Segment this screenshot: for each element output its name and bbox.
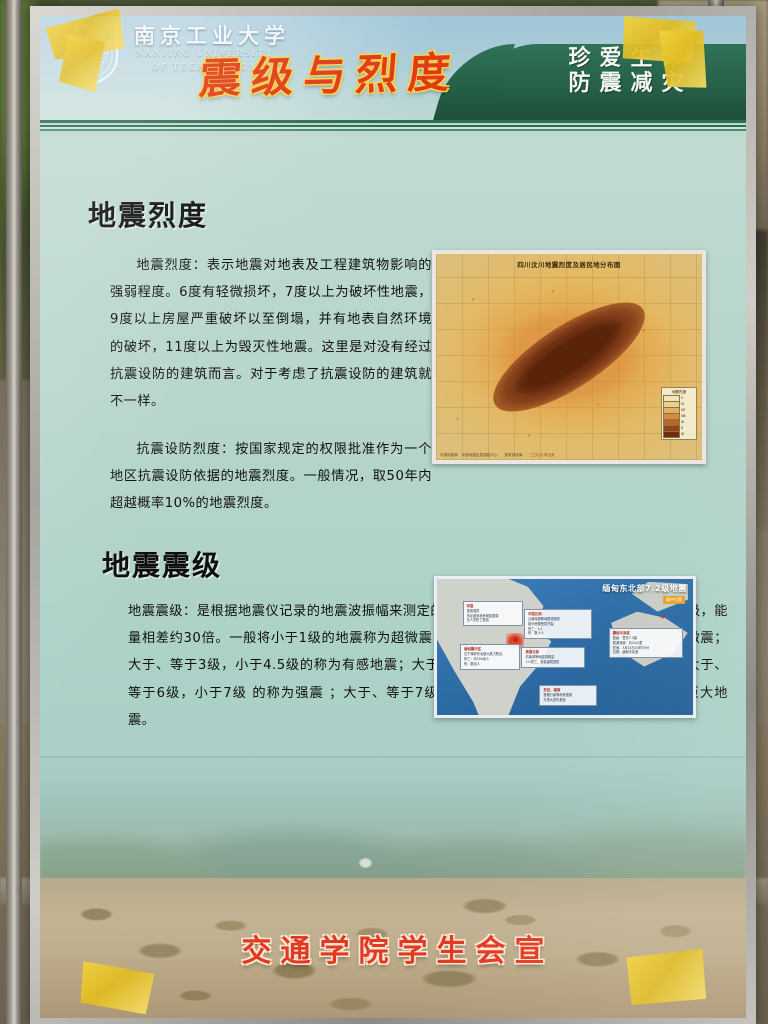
sichuan-map-footer-note: 中国地震局 中国地震应急搜救中心 国家测绘局 二〇〇八年五月: [440, 452, 555, 457]
legend-label: Ⅴ: [681, 396, 683, 400]
legend-label: Ⅵ: [681, 402, 684, 406]
map-callout: 泰国北部清莱府等地震感明显1人死亡，多处建筑受损: [521, 647, 585, 668]
poster-frame: 南京工业大学 NANJING UNIVERSITY OF TECHNOLOGY …: [30, 6, 756, 1024]
legend-row: Ⅺ: [663, 431, 695, 437]
poster-frame-inner: 南京工业大学 NANJING UNIVERSITY OF TECHNOLOGY …: [40, 16, 746, 1018]
map-callout: 印度震感强烈东北部多地有明显震感无人员伤亡报告: [463, 601, 523, 627]
bottom-photo-pipe: [359, 858, 372, 868]
section-heading-magnitude: 地震震级: [102, 544, 222, 584]
map-callout: 缅甸震中区位于掸邦东北部大其力附近死亡：约200余人伤：数百人: [460, 644, 520, 670]
poster-main-title: 震级与烈度: [197, 39, 462, 107]
background-pole-left: [6, 0, 22, 1024]
legend-rows: ⅤⅥⅦⅧⅨⅩⅪ: [663, 395, 695, 437]
map-callout-line: 无重大损失报告: [543, 698, 593, 703]
figure-sichuan-intensity-map: 四川汶川地震烈度及居民地分布图 地震烈度 ⅤⅥⅦⅧⅨⅩⅪ 中国地震局 中国地震应…: [432, 250, 706, 464]
map-callout-line: 位置：缅甸东北部: [613, 650, 679, 655]
legend-swatch: [663, 431, 680, 438]
map-callout-line: 伤：数百人: [464, 662, 516, 667]
myanmar-map-title: 缅甸东北部7.2级地震: [602, 583, 687, 594]
map-callout-line: 1人死亡，多处建筑受损: [525, 660, 581, 665]
poster-board: 南京工业大学 NANJING UNIVERSITY OF TECHNOLOGY …: [40, 16, 746, 1018]
myanmar-map-badge: 震中位置: [663, 596, 685, 604]
figure-myanmar-earthquake-map: 缅甸东北部7.2级地震 震中位置 印度震感强烈东北部多地有明显震感无人员伤亡报告…: [434, 576, 696, 718]
footer-credit-text: 交通学院学生会宣: [40, 926, 746, 970]
legend-label: Ⅺ: [681, 432, 684, 436]
map-callout: 老挝、越南首都万象等地有震感无重大损失报告: [539, 685, 597, 706]
sichuan-map-canvas: 四川汶川地震烈度及居民地分布图 地震烈度 ⅤⅥⅦⅧⅨⅩⅪ 中国地震局 中国地震应…: [436, 254, 702, 460]
section-heading-intensity: 地震烈度: [88, 194, 208, 234]
header-divider-lines: [40, 120, 746, 136]
photo-scene: 南京工业大学 NANJING UNIVERSITY OF TECHNOLOGY …: [0, 0, 768, 1024]
legend-label: Ⅶ: [681, 408, 685, 412]
legend-label: Ⅹ: [681, 426, 683, 430]
map-callout-line: 无人员伤亡报告: [467, 618, 519, 623]
sichuan-map-title: 四川汶川地震烈度及居民地分布图: [436, 259, 702, 269]
map-callout-line: 伤：数十人: [528, 631, 588, 636]
section-paragraph-intensity-2: 抗震设防烈度：按国家规定的权限批准作为一个地区抗震设防依据的地震烈度。一般情况，…: [110, 436, 432, 518]
legend-label: Ⅷ: [681, 414, 685, 418]
sichuan-map-legend: 地震烈度 ⅤⅥⅦⅧⅨⅩⅪ: [661, 387, 697, 440]
section-paragraph-intensity-1: 地震烈度：表示地震对地表及工程建筑物影响的强弱程度。6度有轻微损坏，7度以上为破…: [110, 252, 432, 415]
map-callout: 震级与深度震级：里氏7.2级震源深度：约20公里时间：3月24日20时55分位置…: [609, 628, 683, 658]
legend-label: Ⅸ: [681, 420, 684, 424]
map-callout: 中国云南云南瑞丽等地震感强烈部分房屋受损开裂死亡：1人伤：数十人: [524, 609, 592, 639]
myanmar-map-canvas: 缅甸东北部7.2级地震 震中位置 印度震感强烈东北部多地有明显震感无人员伤亡报告…: [437, 579, 693, 715]
